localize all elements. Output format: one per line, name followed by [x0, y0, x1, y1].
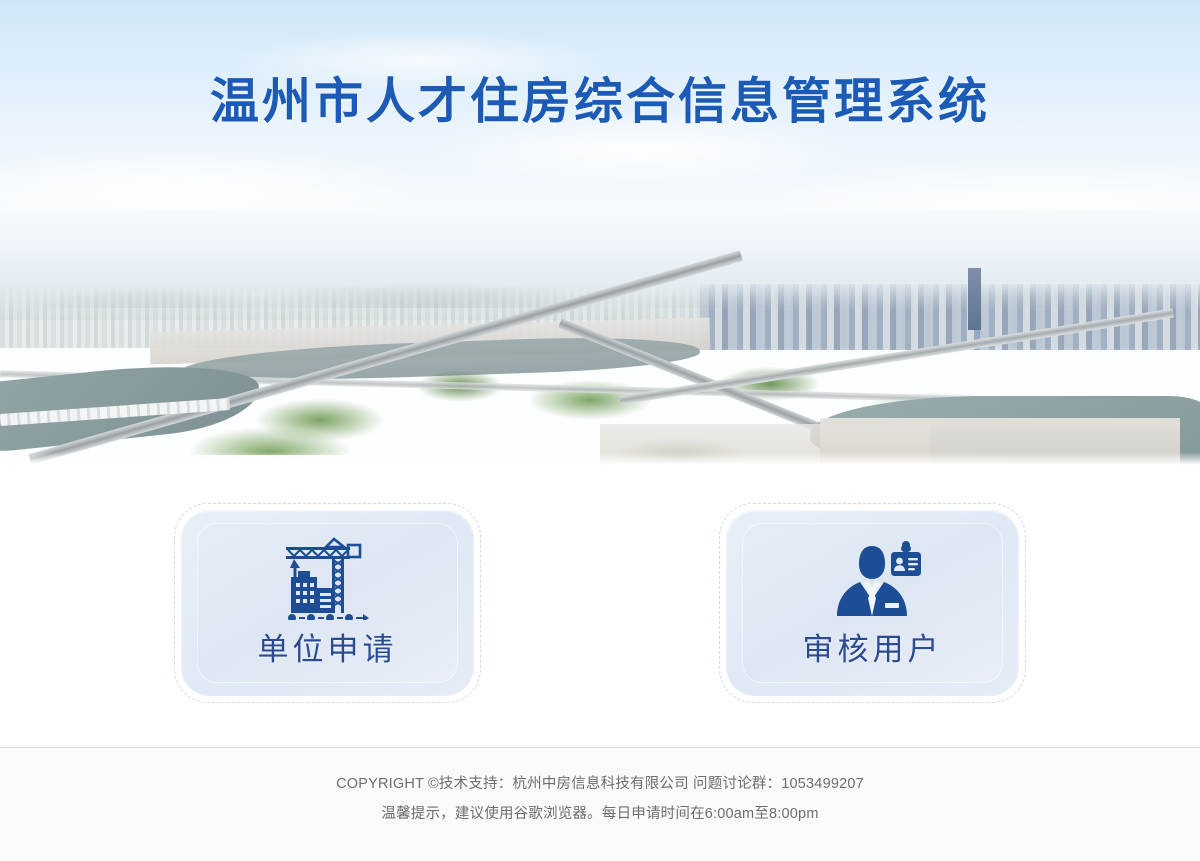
reviewer-user-icon	[823, 536, 923, 620]
page-footer: COPYRIGHT ©技术支持：杭州中房信息科技有限公司 问题讨论群：10534…	[0, 747, 1200, 861]
entry-card-reviewer-login[interactable]: 审核用户	[719, 503, 1026, 703]
footer-copyright-line: COPYRIGHT ©技术支持：杭州中房信息科技有限公司 问题讨论群：10534…	[0, 769, 1200, 799]
card-inner-panel: 审核用户	[742, 523, 1003, 683]
photo-bottom-fade	[0, 452, 1200, 466]
footer-notice-line: 温馨提示，建议使用谷歌浏览器。每日申请时间在6:00am至8:00pm	[0, 799, 1200, 829]
card-inner-panel: 单位申请	[197, 523, 458, 683]
card-outer-panel: 审核用户	[726, 510, 1019, 696]
entry-card-label: 审核用户	[803, 624, 943, 669]
cityscape-photo	[0, 210, 1200, 466]
entry-card-row: 单位申请	[0, 503, 1200, 703]
card-outer-panel: 单位申请	[181, 510, 474, 696]
entry-card-unit-application[interactable]: 单位申请	[174, 503, 481, 703]
page-title: 温州市人才住房综合信息管理系统	[0, 62, 1200, 133]
construction-crane-icon	[278, 536, 378, 620]
tall-tower	[968, 268, 981, 330]
hero-banner: 温州市人才住房综合信息管理系统	[0, 0, 1200, 466]
entry-card-label: 单位申请	[258, 624, 398, 669]
entry-section: 单位申请	[0, 466, 1200, 747]
